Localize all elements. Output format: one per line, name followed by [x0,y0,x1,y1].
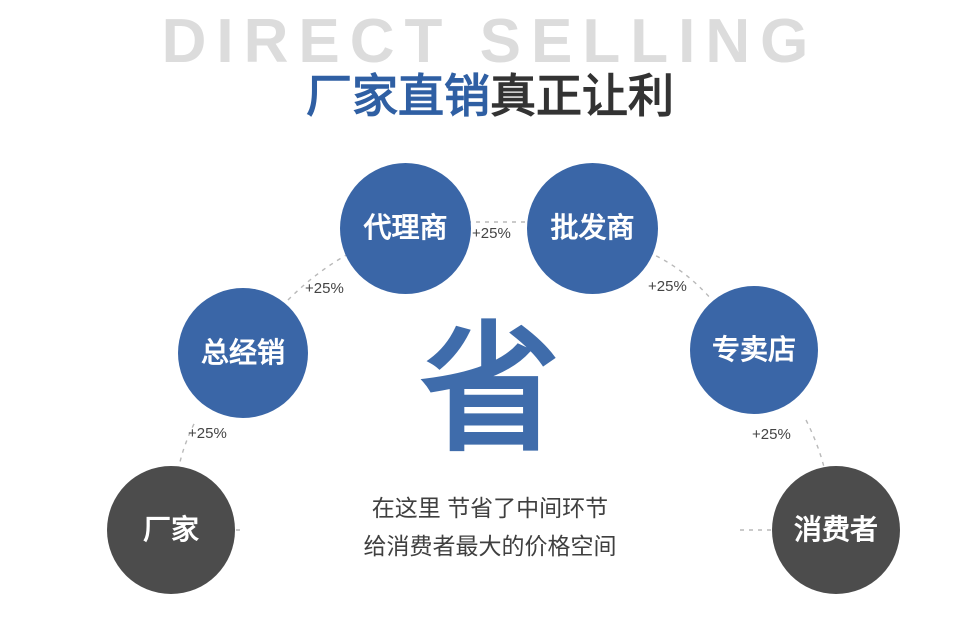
page-title: 厂家直销真正让利 [0,60,980,126]
markup-label-factory-distributor: +25% [188,425,227,442]
markup-label-store-consumer: +25% [752,426,791,443]
page-title-primary: 厂家直销 [306,70,490,122]
caption-line-1: 在这里 节省了中间环节 [240,490,740,528]
savings-glyph: 省 [400,320,580,460]
page-title-secondary: 真正让利 [490,70,674,122]
markup-label-wholesaler-store: +25% [648,278,687,295]
node-factory[interactable]: 厂家 [107,466,235,594]
node-factory-label: 厂家 [143,514,199,546]
markup-label-agent-wholesaler: +25% [472,225,511,242]
markup-label-distributor-agent: +25% [305,280,344,297]
node-wholesaler-label: 批发商 [550,212,634,244]
node-distributor-label: 总经销 [201,337,285,369]
node-agent[interactable]: 代理商 [340,163,471,294]
caption-line-2: 给消费者最大的价格空间 [240,528,740,566]
node-store-label: 专卖店 [712,334,796,366]
node-store[interactable]: 专卖店 [690,286,818,414]
bottom-caption: 在这里 节省了中间环节 给消费者最大的价格空间 [240,488,740,568]
node-consumer[interactable]: 消费者 [772,466,900,594]
diagram-canvas: DIRECT SELLING 厂家直销真正让利 厂家 总经销 代理商 批发商 专… [0,0,980,641]
node-agent-label: 代理商 [363,212,447,244]
node-wholesaler[interactable]: 批发商 [527,163,658,294]
node-consumer-label: 消费者 [794,514,878,546]
node-distributor[interactable]: 总经销 [178,288,308,418]
